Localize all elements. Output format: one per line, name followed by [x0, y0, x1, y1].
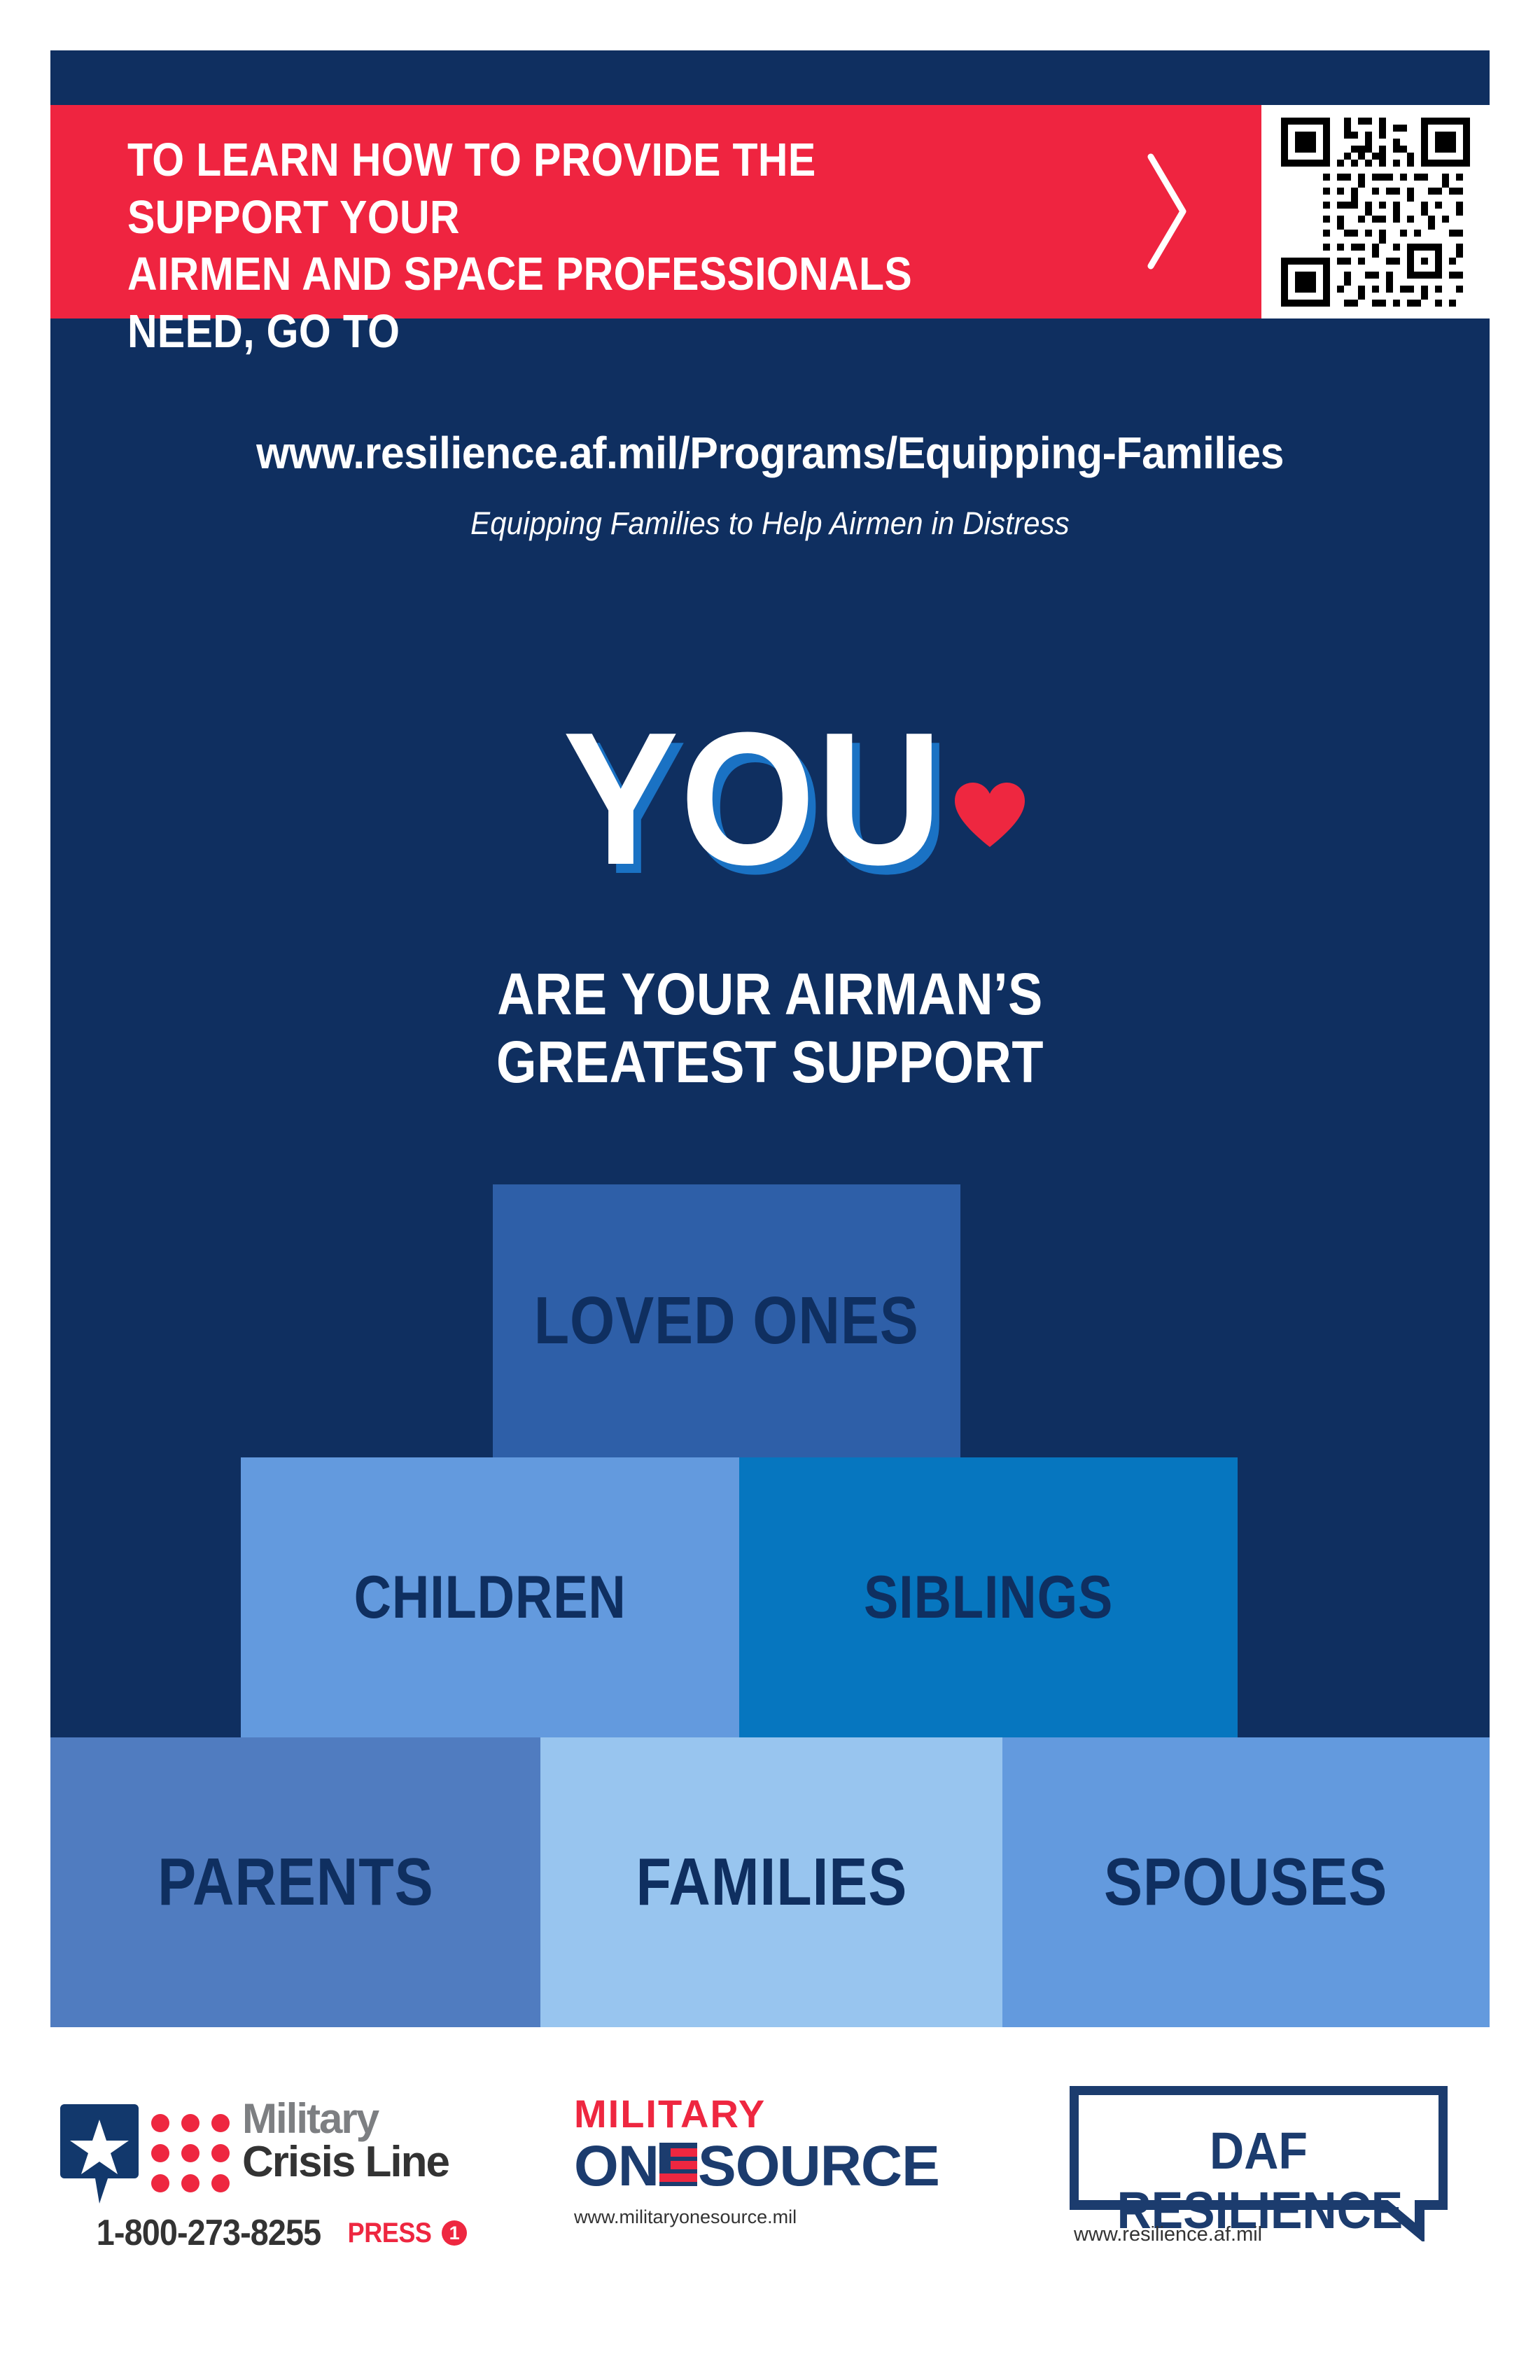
hero-headline: YOU [50, 708, 1490, 890]
daf-resilience-label: DAF RESILIENCE [1117, 2121, 1401, 2240]
mos-word-on: ON [574, 2138, 659, 2195]
mcl-phone-number[interactable]: 1-800-273-8255 [97, 2212, 321, 2254]
mcl-phone-row[interactable]: 1-800-273-8255PRESS1 [84, 2212, 504, 2254]
block-children: CHILDREN [241, 1457, 739, 1737]
block-families: FAMILIES [540, 1737, 1002, 2027]
military-crisis-line-wordmark: Military Crisis Line [242, 2099, 508, 2184]
mcl-press-label: PRESS [348, 2218, 432, 2249]
chevron-right-icon [1145, 153, 1189, 270]
block-label-children: CHILDREN [353, 1563, 626, 1632]
block-label-families: FAMILIES [636, 1844, 907, 1921]
callout-banner-text: TO LEARN HOW TO PROVIDE THE SUPPORT YOUR… [127, 132, 1008, 360]
you-row: YOU [563, 708, 976, 890]
block-label-loved-ones: LOVED ONES [534, 1282, 919, 1359]
block-parents: PARENTS [50, 1737, 540, 2027]
mcl-word-crisis-line: Crisis Line [242, 2141, 508, 2184]
heart-icon [953, 781, 1026, 848]
block-siblings: SIBLINGS [739, 1457, 1238, 1737]
qr-code-panel[interactable] [1261, 105, 1490, 318]
dot-grid-icon [151, 2114, 230, 2192]
military-crisis-line-logo[interactable]: Military Crisis Line 1-800-273-8255PRESS… [59, 2089, 507, 2257]
flag-e-icon [659, 2143, 697, 2186]
qr-code-icon[interactable] [1281, 118, 1470, 307]
callout-banner: TO LEARN HOW TO PROVIDE THE SUPPORT YOUR… [50, 105, 1261, 318]
program-tagline: Equipping Families to Help Airmen in Dis… [101, 505, 1439, 542]
block-spouses: SPOUSES [1002, 1737, 1490, 2027]
daf-resilience-logo[interactable]: DAF RESILIENCE www.resilience.af.mil [1070, 2086, 1469, 2261]
footer-logo-bar: Military Crisis Line 1-800-273-8255PRESS… [0, 2027, 1540, 2380]
mos-url[interactable]: www.militaryonesource.mil [574, 2206, 966, 2228]
poster-root: TO LEARN HOW TO PROVIDE THE SUPPORT YOUR… [0, 0, 1540, 2380]
block-label-spouses: SPOUSES [1104, 1844, 1387, 1921]
navy-panel: TO LEARN HOW TO PROVIDE THE SUPPORT YOUR… [50, 50, 1490, 2027]
mcl-word-military: Military [242, 2099, 508, 2139]
mos-word-source: SOURCE [698, 2138, 939, 2195]
mos-word-military: MILITARY [574, 2094, 966, 2134]
mcl-press-number-badge: 1 [442, 2220, 467, 2246]
hero-word-you: YOU [563, 708, 944, 890]
speech-bubble-star-icon [59, 2101, 140, 2206]
block-loved-ones: LOVED ONES [493, 1184, 960, 1457]
block-label-parents: PARENTS [157, 1844, 433, 1921]
program-url[interactable]: www.resilience.af.mil/Programs/Equipping… [86, 427, 1453, 479]
military-onesource-logo[interactable]: MILITARY ON SOURCE www.militaryonesource… [574, 2094, 966, 2248]
mos-wordmark-line2: ON SOURCE [574, 2138, 966, 2195]
block-label-siblings: SIBLINGS [864, 1563, 1113, 1632]
hero-subhead: ARE YOUR AIRMAN’S GREATEST SUPPORT [136, 960, 1403, 1097]
daf-resilience-url[interactable]: www.resilience.af.mil [1074, 2223, 1262, 2246]
